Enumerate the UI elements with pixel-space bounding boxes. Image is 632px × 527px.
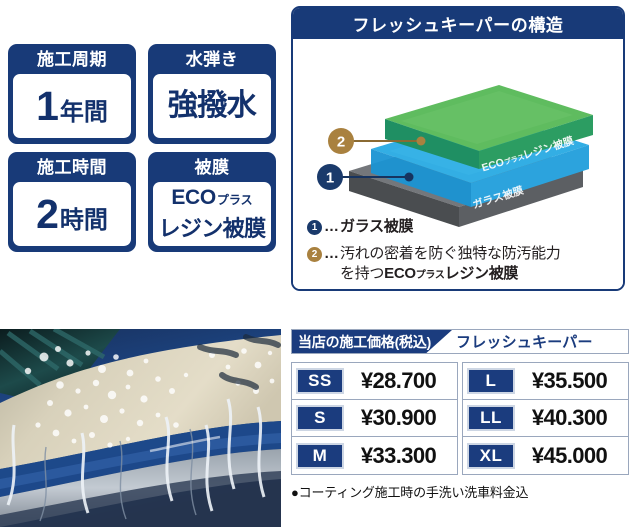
spec-card-water-repellency: 水弾き 強撥水 — [148, 44, 276, 144]
spec-card-cycle-value: 1 年間 — [13, 74, 131, 138]
legend-item-2: 2 … 汚れの密着を防ぐ独特な防汚能力 を持つECOプラスレジン被膜 — [307, 244, 615, 286]
legend-item-1: 1 … ガラス被膜 — [307, 217, 615, 237]
legend-dots-1: … — [324, 217, 339, 237]
size-badge: XL — [467, 443, 515, 469]
price-table-left-column: SS ¥28.700 S ¥30.900 M ¥33.300 — [291, 362, 458, 475]
structure-panel-title: フレッシュキーパーの構造 — [293, 8, 623, 39]
structure-panel-body: ECO プラス レジン被膜 ガラス被膜 塗装の表面 — [293, 39, 623, 289]
legend-label-2-line2-pre: を持つ — [340, 265, 384, 282]
table-row: XL ¥45.000 — [463, 437, 628, 474]
price-header-left-label: 当店の施工価格(税込) — [292, 330, 452, 353]
layer-stack-svg: ECO プラス レジン被膜 ガラス被膜 塗装の表面 — [293, 41, 623, 231]
spec-card-cycle-number: 1 — [36, 84, 59, 128]
spec-card-cycle: 施工周期 1 年間 — [8, 44, 136, 144]
structure-panel: フレッシュキーパーの構造 — [291, 6, 625, 291]
table-row: S ¥30.900 — [292, 400, 457, 437]
legend-label-2-post: レジン被膜 — [445, 265, 519, 282]
legend-label-2-line1: 汚れの密着を防ぐ独特な防汚能力 — [340, 245, 561, 262]
spec-card-coating-film-value: ECO プラス レジン被膜 — [153, 182, 271, 246]
callout-2-number: 2 — [337, 134, 345, 151]
legend-badge-1-icon: 1 — [307, 220, 322, 235]
price-value: ¥35.500 — [515, 368, 624, 394]
size-badge: LL — [467, 405, 515, 431]
callout-2-dot — [417, 137, 426, 146]
water-beading-photo — [0, 329, 281, 527]
spec-card-duration-number: 2 — [36, 192, 59, 236]
legend-label-2: 汚れの密着を防ぐ独特な防汚能力 を持つECOプラスレジン被膜 — [340, 244, 561, 286]
table-row: SS ¥28.700 — [292, 363, 457, 400]
infographic-page: 施工周期 1 年間 水弾き 強撥水 施工時間 2 時間 — [0, 0, 632, 527]
price-value: ¥28.700 — [344, 368, 453, 394]
price-section: 当店の施工価格(税込) フレッシュキーパー SS ¥28.700 S ¥30.9… — [291, 329, 629, 501]
table-row: M ¥33.300 — [292, 437, 457, 474]
size-badge: L — [467, 368, 515, 394]
size-badge: SS — [296, 368, 344, 394]
size-badge: M — [296, 443, 344, 469]
price-value: ¥40.300 — [515, 405, 624, 431]
spec-card-coating-film-title: 被膜 — [153, 157, 271, 179]
water-beading-illustration — [0, 329, 281, 527]
spec-card-cycle-unit: 年間 — [60, 92, 108, 127]
legend-label-1: ガラス被膜 — [340, 217, 413, 237]
spec-card-duration: 施工時間 2 時間 — [8, 152, 136, 252]
structure-legend: 1 … ガラス被膜 2 … 汚れの密着を防ぐ独特な防汚能力 を持つECOプラスレ… — [307, 217, 615, 291]
spec-card-duration-title: 施工時間 — [13, 157, 131, 179]
price-section-note: ●コーティング施工時の手洗い洗車料金込 — [291, 482, 629, 501]
price-table-right-column: L ¥35.500 LL ¥40.300 XL ¥45.000 — [462, 362, 629, 475]
price-value: ¥45.000 — [515, 443, 624, 469]
legend-label-2-sup: プラス — [416, 270, 445, 281]
price-value: ¥30.900 — [344, 405, 453, 431]
callout-1-number: 1 — [326, 170, 334, 187]
spec-card-water-repellency-text: 強撥水 — [168, 89, 257, 123]
legend-dots-2: … — [324, 244, 339, 264]
table-row: LL ¥40.300 — [463, 400, 628, 437]
price-section-header: 当店の施工価格(税込) フレッシュキーパー — [291, 329, 629, 354]
spec-card-coating-film: 被膜 ECO プラス レジン被膜 — [148, 152, 276, 252]
spec-card-grid: 施工周期 1 年間 水弾き 強撥水 施工時間 2 時間 — [8, 44, 280, 252]
spec-card-duration-unit: 時間 — [60, 200, 108, 235]
price-table: SS ¥28.700 S ¥30.900 M ¥33.300 L ¥35.500 — [291, 362, 629, 475]
spec-card-water-repellency-title: 水弾き — [153, 49, 271, 71]
legend-label-2-eco: ECO — [384, 265, 416, 282]
spec-card-cycle-title: 施工周期 — [13, 49, 131, 71]
callout-1-dot — [405, 173, 414, 182]
size-badge: S — [296, 405, 344, 431]
price-header-right-label: フレッシュキーパー — [456, 330, 593, 353]
table-row: L ¥35.500 — [463, 363, 628, 400]
spec-card-duration-value: 2 時間 — [13, 182, 131, 246]
spec-card-coating-film-eco: ECO — [171, 186, 216, 210]
price-value: ¥33.300 — [344, 443, 453, 469]
legend-badge-2-icon: 2 — [307, 247, 322, 262]
spec-card-coating-film-plus: プラス — [217, 191, 253, 208]
spec-card-water-repellency-value: 強撥水 — [153, 74, 271, 138]
spec-card-coating-film-resin: レジン被膜 — [158, 211, 265, 243]
layer-stack-diagram: ECO プラス レジン被膜 ガラス被膜 塗装の表面 — [293, 41, 623, 231]
